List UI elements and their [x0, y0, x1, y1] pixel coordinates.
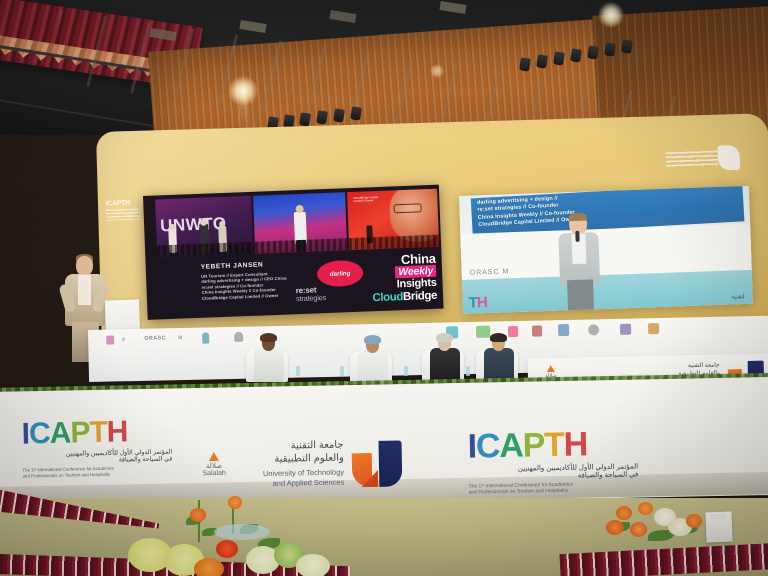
- water-bottle: [340, 366, 344, 376]
- eyeglasses-icon: [394, 203, 422, 213]
- panelist-body: [254, 348, 284, 382]
- projection-screen-right: darling advertising + design // re:set s…: [459, 186, 753, 314]
- sponsor-emblem-10: [620, 324, 631, 335]
- water-bottle: [466, 366, 470, 376]
- darling-logo: darling: [317, 260, 364, 288]
- flower-vase: [214, 524, 270, 540]
- audience-silhouette: [255, 238, 347, 254]
- screen-watermark-orasc: ORASC M: [470, 268, 510, 276]
- sponsor-orasc: ORASC: [144, 335, 166, 341]
- flower-orange: [630, 522, 647, 537]
- presenter-shirt: [78, 275, 91, 305]
- stage-lamp-glow: [430, 64, 444, 78]
- sponsor-emblem-1: [106, 335, 114, 344]
- slide-brand-lockup: darling re:set strategies China Weekly I…: [294, 249, 438, 310]
- cloudbridge-logo: CloudBridge: [372, 290, 437, 304]
- spotlight-can: [570, 48, 582, 62]
- icapth-letter-c: C: [29, 419, 50, 449]
- icapth-mark-shape: [717, 145, 740, 171]
- panel-caption-text: CloudBridge CapitalLimited // Owner: [353, 196, 378, 204]
- panelist-body: [484, 348, 514, 382]
- reset-logo-line2: strategies: [296, 293, 326, 303]
- presentation-slide-left: UNWTO CloudBridge CapitalLimited // Owne…: [143, 185, 444, 320]
- flower-orange: [616, 506, 632, 520]
- spotlight-can: [299, 112, 311, 126]
- spotlight-can: [553, 51, 565, 65]
- flower-bouquet-right: [594, 500, 714, 548]
- cloud-label: Cloud: [372, 291, 403, 304]
- sponsor-emblem-9: [588, 324, 599, 335]
- flower-orange: [194, 558, 224, 576]
- screen-watermark-th: TH: [468, 294, 487, 312]
- sponsor-emblem-7: [532, 325, 542, 336]
- flower-orange: [686, 514, 702, 528]
- icapth-logo-left: I C A P T H المؤتمر الدولي الأول للأكادي…: [21, 416, 172, 478]
- icapth-letter-h: H: [563, 427, 587, 461]
- grey-hair: [436, 333, 453, 342]
- panelist-body: [358, 350, 388, 384]
- microphone-icon: [575, 231, 579, 242]
- icapth-watermark-lines: [666, 151, 719, 169]
- live-camera-feed-speaker: [556, 213, 603, 310]
- insights-label: Insights: [397, 277, 437, 291]
- water-bottle: [296, 366, 300, 376]
- utas-arabic-1: جامعة التقنية: [291, 440, 344, 452]
- icapth-wordmark: I C A P T H: [21, 416, 172, 449]
- photo-panel-blue-stage: [253, 192, 347, 253]
- panelist-body: [430, 348, 460, 382]
- kuma-cap-icon: [260, 333, 277, 342]
- photo-panel-red-portrait: CloudBridge CapitalLimited // Owner: [347, 189, 439, 250]
- salalah-english: Salalah: [192, 470, 236, 478]
- icapth-letter-t: T: [89, 418, 107, 448]
- utas-logo: [351, 440, 402, 487]
- backdrop-icapth-watermark-left: ICAPTH: [104, 199, 147, 226]
- icapth-logo-center: I C A P T H المؤتمر الدولي الأول للأكادي…: [467, 426, 638, 496]
- utas-arabic-2: والعلوم التطبيقية: [274, 453, 344, 465]
- spotlight-can: [316, 110, 328, 124]
- flower-white: [296, 554, 330, 576]
- flower-red: [216, 540, 238, 558]
- sponsor-m: M: [178, 335, 183, 341]
- icapth-wordmark: I C A P T H: [467, 426, 638, 463]
- salalah-mark-banner: صلالة Salalah: [192, 452, 236, 478]
- utas-english-2: and Applied Sciences: [272, 478, 344, 488]
- salalah-triangle-icon: [209, 452, 219, 461]
- spotlight-can: [604, 42, 616, 56]
- icapth-letter-a: A: [49, 419, 70, 449]
- photo-panel-unwto: UNWTO: [155, 196, 253, 258]
- sponsor-emblem-2: [202, 332, 209, 343]
- utas-block-banner: جامعة التقنية والعلوم التطبيقية Universi…: [235, 438, 404, 497]
- slide-photo-strip: UNWTO CloudBridge CapitalLimited // Owne…: [155, 189, 439, 258]
- screen-watermark-arabic: لتقنية: [731, 293, 745, 300]
- sponsor-emblem-11: [648, 323, 659, 334]
- backdrop-icapth-watermark: [663, 142, 748, 183]
- icapth-letter-a: A: [499, 429, 523, 463]
- water-bottle: [404, 366, 408, 376]
- utas-arabic-1: جامعة التقنية: [688, 362, 720, 370]
- flower-orange: [190, 508, 206, 522]
- flower-bouquet-center: [128, 498, 348, 576]
- spotlight-can: [519, 57, 531, 71]
- salalah-triangle-icon: [547, 365, 555, 372]
- watermark-h: H: [477, 294, 487, 311]
- stage-lamp-glow: [598, 2, 624, 28]
- utas-english-1: University of Technology: [263, 468, 344, 479]
- conference-photo: ICAPTH UNWTO CloudBridge Ca: [0, 0, 768, 576]
- audience-silhouette: [349, 235, 439, 250]
- sponsor-emblem-8: [558, 324, 569, 336]
- utas-logo-navy: [378, 440, 402, 486]
- audience-silhouette: [157, 242, 253, 258]
- flower-orange: [638, 502, 653, 515]
- bridge-label: Bridge: [403, 290, 437, 303]
- speaker-hair: [569, 213, 587, 222]
- icapth-letter-h: H: [106, 417, 127, 447]
- sponsor-emblem-3: [234, 332, 243, 342]
- presenter-head: [76, 256, 93, 276]
- icapth-letter-p: P: [70, 418, 90, 448]
- spotlight-can: [621, 39, 633, 53]
- icapth-letter-p: P: [522, 428, 544, 462]
- speaker-legs: [567, 279, 594, 312]
- spotlight-can: [333, 108, 345, 122]
- slide-speaker-name: YEBETH JANSEN: [201, 261, 264, 270]
- sponsor-label-f: F: [122, 337, 126, 343]
- panelist-2: [356, 338, 392, 386]
- panelist-1: [252, 336, 288, 384]
- spotlight-can: [536, 54, 548, 68]
- flower-orange: [228, 496, 242, 509]
- flower-orange: [606, 520, 624, 535]
- icapth-letter-c: C: [476, 429, 500, 463]
- dark-hair: [490, 333, 507, 342]
- darling-label: darling: [330, 270, 351, 278]
- spotlight-can: [350, 106, 362, 120]
- turban-icon: [364, 335, 381, 344]
- spotlight-can: [587, 45, 599, 59]
- icapth-letter-t: T: [544, 428, 564, 462]
